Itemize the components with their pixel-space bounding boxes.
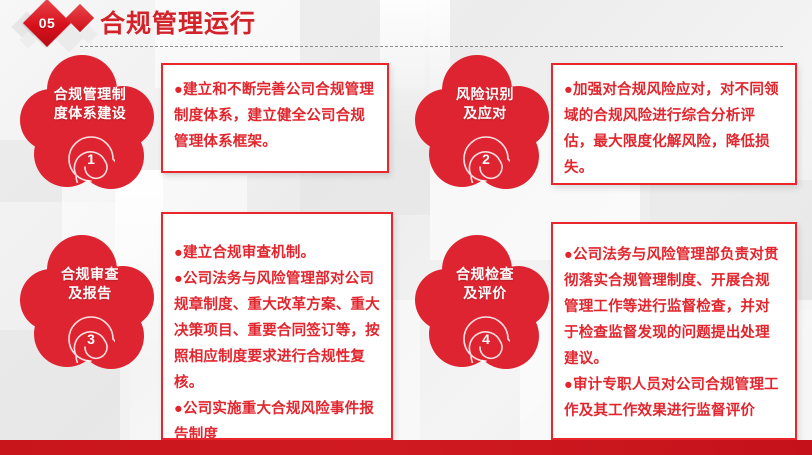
- item-card-4-body: ●公司法务与风险管理部负责对贯彻落实合规管理制度、开展合规管理工作等进行监督检查…: [553, 224, 795, 434]
- badge-number-1: 1: [67, 135, 115, 183]
- section-number: 05: [30, 6, 64, 40]
- slide-canvas: 05 合规管理运行 合规管理制 度体系建设 1 ●建立和不断完善公司合规管理制度…: [0, 0, 812, 455]
- bullet-line: ●审计专职人员对公司合规管理工作及其工作效果进行监督评价: [564, 372, 784, 424]
- item-card-1: ●建立和不断完善公司合规管理制度体系，建立健全公司合规管理体系框架。: [161, 63, 389, 173]
- badge-number-2: 2: [462, 135, 510, 183]
- badge-label-line: 合规管理制: [20, 85, 160, 104]
- badge-label-2: 风险识别 及应对: [415, 85, 555, 123]
- bullet-line: ●建立合规审查机制。: [174, 240, 380, 266]
- bullet-line: ●公司法务与风险管理部对公司规章制度、重大改革方案、重大决策项目、重要合同签订等…: [174, 266, 380, 396]
- badge-label-1: 合规管理制 度体系建设: [20, 85, 160, 123]
- item-card-3-body: ●建立合规审查机制。 ●公司法务与风险管理部对公司规章制度、重大改革方案、重大决…: [163, 214, 391, 455]
- badge-label-line: 及报告: [20, 284, 160, 303]
- item-card-4: ●公司法务与风险管理部负责对贯彻落实合规管理制度、开展合规管理工作等进行监督检查…: [551, 222, 797, 440]
- bullet-line: ●建立和不断完善公司合规管理制度体系，建立健全公司合规管理体系框架。: [174, 77, 376, 155]
- badge-number-4: 4: [462, 315, 510, 363]
- item-badge-4[interactable]: 合规检查 及评价 4: [415, 235, 555, 375]
- badge-label-line: 度体系建设: [20, 104, 160, 123]
- bullet-line: ●公司法务与风险管理部负责对贯彻落实合规管理制度、开展合规管理工作等进行监督检查…: [564, 242, 784, 372]
- item-badge-1[interactable]: 合规管理制 度体系建设 1: [20, 55, 160, 195]
- header-divider: [80, 46, 783, 47]
- page-title: 合规管理运行: [100, 9, 256, 39]
- bullet-line: ●加强对合规风险应对，对不同领域的合规风险进行综合分析评估，最大限度化解风险，降…: [564, 77, 784, 181]
- item-card-2-body: ●加强对合规风险应对，对不同领域的合规风险进行综合分析评估，最大限度化解风险，降…: [553, 65, 795, 191]
- badge-label-4: 合规检查 及评价: [415, 265, 555, 303]
- badge-label-line: 风险识别: [415, 85, 555, 104]
- badge-label-3: 合规审查 及报告: [20, 265, 160, 303]
- badge-number-3: 3: [67, 315, 115, 363]
- item-badge-2[interactable]: 风险识别 及应对 2: [415, 55, 555, 195]
- item-card-3: ●建立合规审查机制。 ●公司法务与风险管理部对公司规章制度、重大改革方案、重大决…: [161, 212, 393, 440]
- badge-label-line: 合规检查: [415, 265, 555, 284]
- item-card-1-body: ●建立和不断完善公司合规管理制度体系，建立健全公司合规管理体系框架。: [163, 65, 387, 165]
- item-card-2: ●加强对合规风险应对，对不同领域的合规风险进行综合分析评估，最大限度化解风险，降…: [551, 63, 797, 185]
- badge-label-line: 及应对: [415, 104, 555, 123]
- badge-label-line: 及评价: [415, 284, 555, 303]
- badge-label-line: 合规审查: [20, 265, 160, 284]
- bottom-accent-bar: [0, 440, 812, 455]
- slide-header: 05 合规管理运行: [0, 0, 812, 52]
- item-badge-3[interactable]: 合规审查 及报告 3: [20, 235, 160, 375]
